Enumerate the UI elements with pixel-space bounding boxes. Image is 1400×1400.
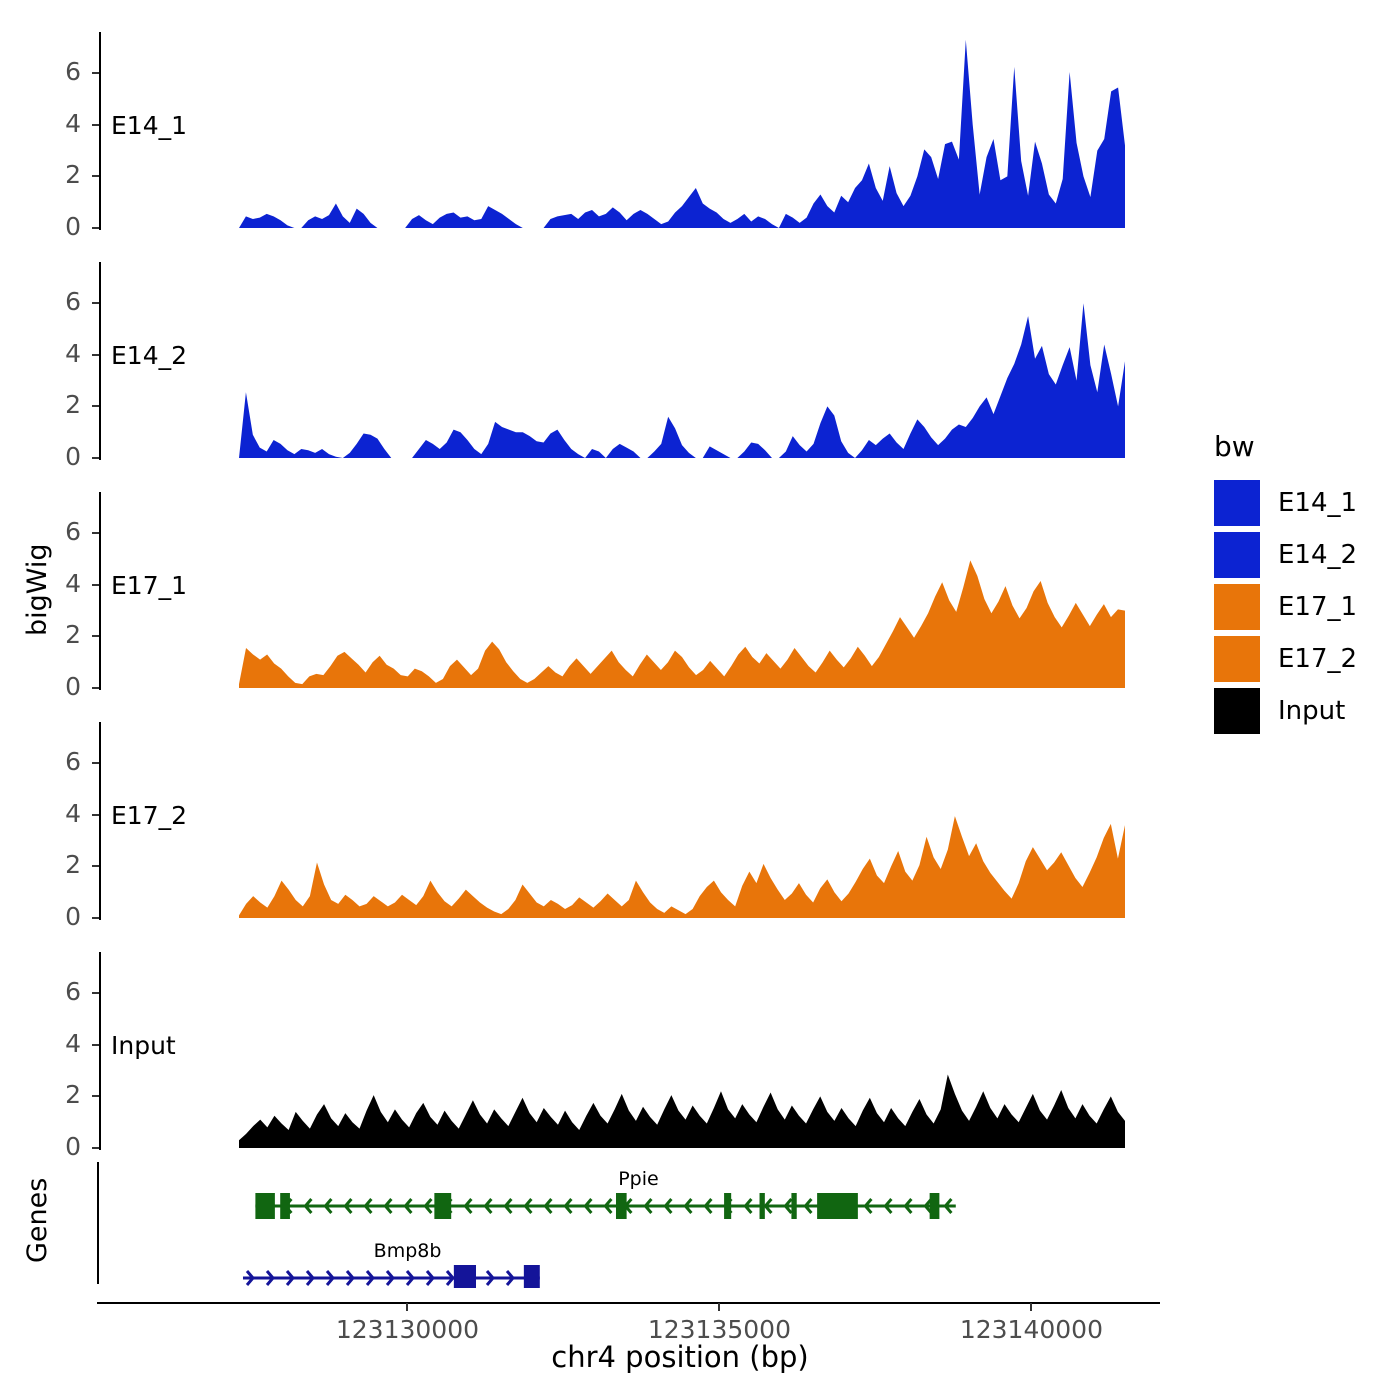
legend-item-e17_2[interactable]: E17_2	[1214, 636, 1357, 682]
x-tick	[1030, 1303, 1032, 1311]
y-tick	[92, 1147, 99, 1149]
x-axis-title: chr4 position (bp)	[180, 1340, 1180, 1374]
y-tick-label: 4	[41, 799, 81, 828]
y-tick	[92, 72, 99, 74]
y-axis-label-bigwig: bigWig	[22, 500, 56, 680]
x-tick	[406, 1303, 408, 1311]
y-tick	[92, 1044, 99, 1046]
y-tick-label: 4	[41, 1029, 81, 1058]
signal-track-e17_1	[239, 492, 1125, 690]
legend-label: E17_1	[1278, 592, 1357, 622]
figure-root: bigWig Genes 0246E14_10246E14_20246E17_1…	[0, 0, 1400, 1400]
y-tick	[92, 762, 99, 764]
y-axis-line	[99, 262, 101, 460]
y-tick	[92, 1095, 99, 1097]
gene-model-bmp8b[interactable]	[100, 1160, 1160, 1288]
y-axis-line	[99, 32, 101, 230]
gene-label-bmp8b: Bmp8b	[374, 1240, 442, 1262]
y-tick-label: 4	[41, 109, 81, 138]
y-tick-label: 6	[41, 57, 81, 86]
y-axis-line	[99, 492, 101, 690]
y-tick-label: 0	[41, 442, 81, 471]
y-tick-label: 2	[41, 390, 81, 419]
y-tick	[92, 124, 99, 126]
y-tick	[92, 687, 99, 689]
y-tick	[92, 405, 99, 407]
legend-item-e14_1[interactable]: E14_1	[1214, 480, 1357, 526]
legend: bw E14_1E14_2E17_1E17_2Input	[1210, 430, 1400, 730]
strip-label-input: Input	[111, 1031, 176, 1060]
x-axis-line	[97, 1302, 1160, 1304]
strip-label-e17_1: E17_1	[111, 571, 187, 600]
y-axis-line	[99, 722, 101, 920]
y-tick-label: 2	[41, 850, 81, 879]
y-tick	[92, 175, 99, 177]
y-tick	[92, 814, 99, 816]
legend-item-input[interactable]: Input	[1214, 688, 1345, 734]
y-tick	[92, 917, 99, 919]
y-tick-label: 6	[41, 977, 81, 1006]
legend-swatch	[1214, 584, 1260, 630]
y-tick	[92, 227, 99, 229]
y-tick	[92, 532, 99, 534]
y-tick	[92, 302, 99, 304]
signal-track-input	[239, 952, 1125, 1150]
y-tick-label: 0	[41, 902, 81, 931]
y-tick	[92, 635, 99, 637]
legend-title: bw	[1214, 430, 1255, 463]
legend-swatch	[1214, 532, 1260, 578]
signal-track-e14_1	[239, 32, 1125, 230]
strip-label-e14_1: E14_1	[111, 111, 187, 140]
y-axis-line	[99, 952, 101, 1150]
legend-label: Input	[1278, 696, 1345, 726]
legend-swatch	[1214, 480, 1260, 526]
legend-item-e14_2[interactable]: E14_2	[1214, 532, 1357, 578]
genes-panel: PpieBmp8b	[0, 1160, 1200, 1290]
legend-label: E14_1	[1278, 488, 1357, 518]
legend-swatch	[1214, 688, 1260, 734]
strip-label-e17_2: E17_2	[111, 801, 187, 830]
signal-track-e17_2	[239, 722, 1125, 920]
genes-track: PpieBmp8b	[100, 1160, 1160, 1288]
y-tick	[92, 457, 99, 459]
legend-label: E14_2	[1278, 540, 1357, 570]
y-tick-label: 2	[41, 1080, 81, 1109]
legend-label: E17_2	[1278, 644, 1357, 674]
y-tick	[92, 584, 99, 586]
y-tick	[92, 992, 99, 994]
y-tick-label: 6	[41, 287, 81, 316]
y-tick	[92, 865, 99, 867]
strip-label-e14_2: E14_2	[111, 341, 187, 370]
y-tick	[92, 354, 99, 356]
y-tick-label: 4	[41, 339, 81, 368]
y-tick-label: 0	[41, 212, 81, 241]
signal-track-e14_2	[239, 262, 1125, 460]
legend-swatch	[1214, 636, 1260, 682]
genes-axis-line	[97, 1162, 99, 1284]
y-tick-label: 6	[41, 747, 81, 776]
y-tick-label: 2	[41, 160, 81, 189]
legend-item-e17_1[interactable]: E17_1	[1214, 584, 1357, 630]
x-tick	[718, 1303, 720, 1311]
